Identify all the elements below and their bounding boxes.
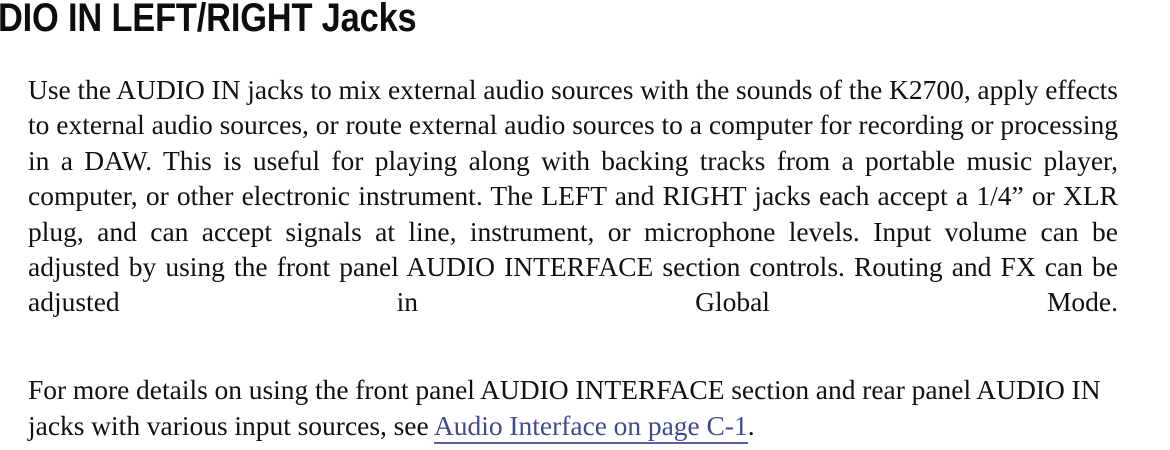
paragraph-audio-in-overview: Use the AUDIO IN jacks to mix external a… [28, 72, 1118, 355]
document-page: DIO IN LEFT/RIGHT Jacks Use the AUDIO IN… [0, 0, 1170, 450]
audio-interface-cross-reference-link[interactable]: Audio Interface on page C-1 [434, 410, 748, 444]
page-title: DIO IN LEFT/RIGHT Jacks [0, 0, 600, 42]
paragraph-more-details: For more details on using the front pane… [28, 372, 1118, 443]
paragraph-more-details-tail: . [748, 410, 755, 441]
body-content: Use the AUDIO IN jacks to mix external a… [28, 72, 1118, 443]
